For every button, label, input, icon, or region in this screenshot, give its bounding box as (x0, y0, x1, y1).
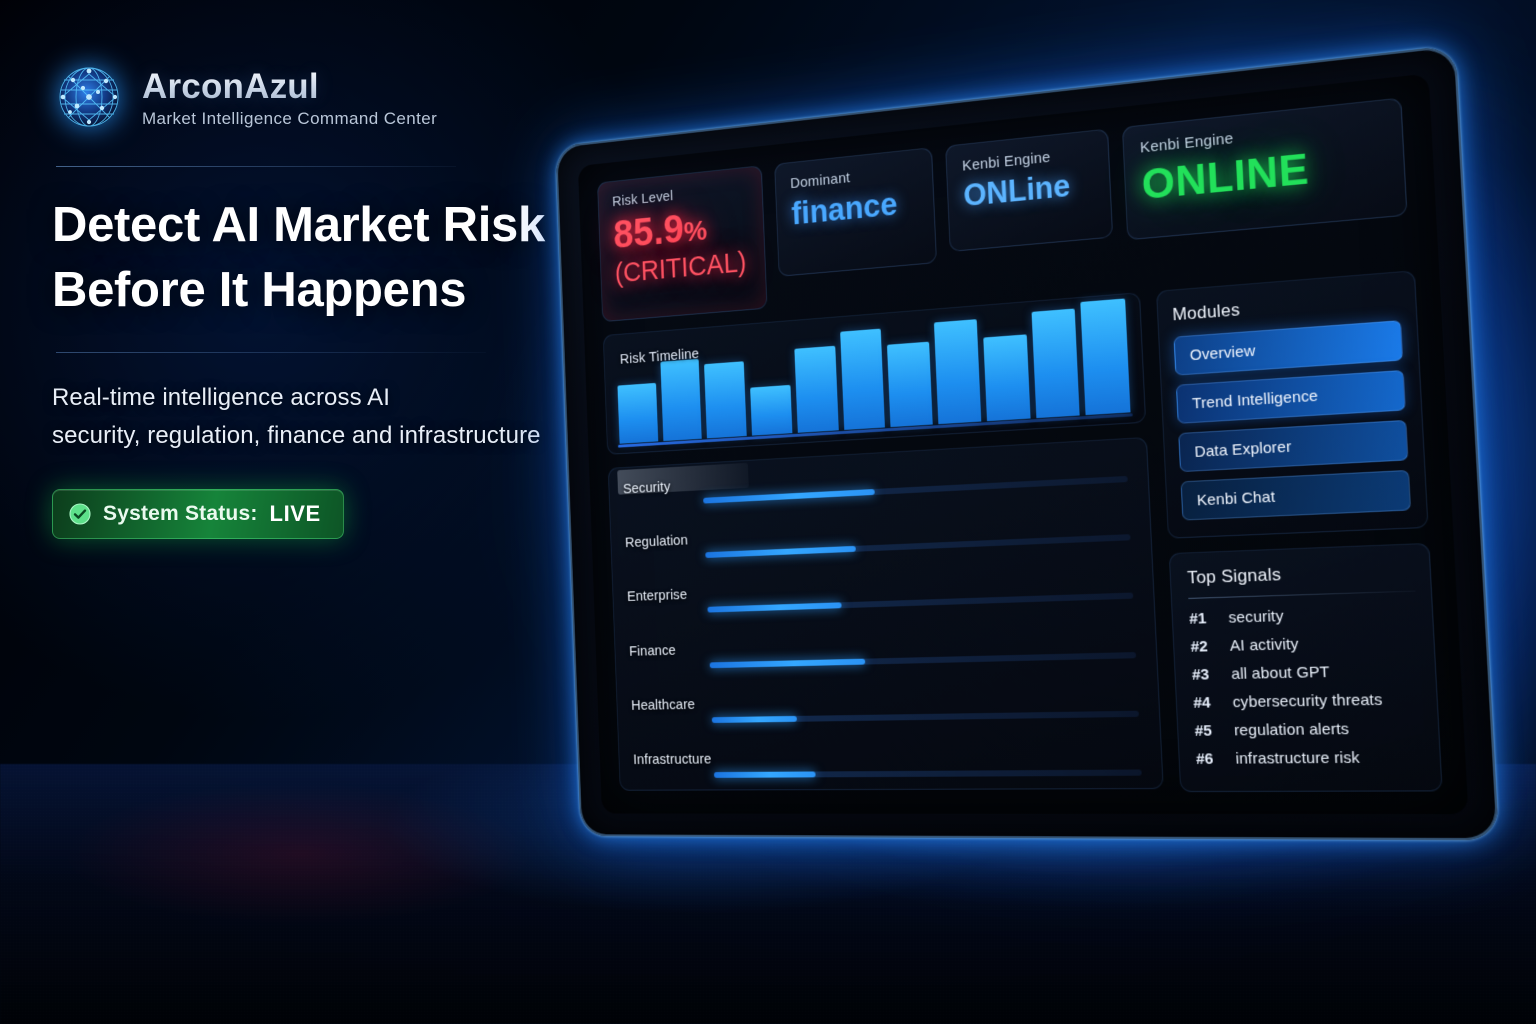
subhead-line-2: security, regulation, finance and infras… (52, 417, 572, 455)
signal-rank: #3 (1192, 666, 1222, 684)
risk-percent-sign: % (683, 215, 707, 248)
category-progress-fill (712, 716, 797, 723)
module-item-trend-intelligence[interactable]: Trend Intelligence (1176, 370, 1406, 424)
category-row[interactable]: Infrastructure (633, 747, 1146, 780)
category-row[interactable]: Security (623, 453, 1132, 509)
signal-item[interactable]: #1security (1189, 603, 1417, 628)
signal-rank: #2 (1190, 638, 1220, 656)
category-progress-track (712, 710, 1139, 722)
module-item-kenbi-chat[interactable]: Kenbi Chat (1181, 470, 1412, 521)
signal-item[interactable]: #6infrastructure risk (1196, 748, 1425, 768)
chart-bar (934, 319, 981, 424)
signal-item[interactable]: #2AI activity (1190, 632, 1418, 656)
top-signals-list: #1security#2AI activity#3all about GPT#4… (1189, 603, 1425, 778)
category-progress-fill (705, 546, 856, 558)
category-progress-track (710, 652, 1137, 668)
signal-text: security (1228, 607, 1284, 626)
chart-bar (660, 359, 702, 441)
kpi-card-risk-level[interactable]: Risk Level 85.9% (CRITICAL) (597, 165, 767, 322)
signal-text: infrastructure risk (1235, 749, 1360, 768)
kpi-card-dominant[interactable]: Dominant finance (774, 147, 937, 277)
signal-item[interactable]: #4cybersecurity threats (1193, 690, 1422, 712)
brand-lockup: ArconAzul Market Intelligence Command Ce… (52, 60, 572, 134)
chart-bar (617, 383, 658, 443)
status-label: System Status: (103, 502, 258, 526)
headline-line-1: Detect AI Market Risk (52, 193, 572, 258)
module-item-overview[interactable]: Overview (1174, 320, 1404, 375)
hero-text-column: ArconAzul Market Intelligence Command Ce… (52, 60, 572, 539)
status-badge: System Status: LIVE (52, 489, 344, 539)
signal-rank: #1 (1189, 609, 1219, 627)
top-signals-title: Top Signals (1187, 560, 1415, 589)
signal-text: AI activity (1229, 635, 1298, 655)
category-progress-track (714, 769, 1142, 777)
modules-title: Modules (1172, 287, 1400, 325)
dashboard-device: Risk Level 85.9% (CRITICAL) Dominant fin… (555, 45, 1499, 841)
signal-rank: #6 (1196, 750, 1226, 768)
dashboard-screen: Risk Level 85.9% (CRITICAL) Dominant fin… (578, 73, 1468, 814)
signal-text: all about GPT (1231, 663, 1330, 683)
category-row[interactable]: Finance (629, 629, 1140, 672)
kpi-value-risk-level: 85.9% (613, 202, 750, 255)
category-progress-fill (703, 489, 874, 504)
kpi-value-dominant: finance (791, 185, 919, 231)
category-progress-fill (707, 603, 841, 613)
category-risk-list: SecurityRegulationEnterpriseFinanceHealt… (608, 437, 1164, 791)
module-item-data-explorer[interactable]: Data Explorer (1178, 420, 1408, 472)
device-bezel: Risk Level 85.9% (CRITICAL) Dominant fin… (555, 45, 1499, 841)
modules-panel: Modules OverviewTrend IntelligenceData E… (1156, 270, 1429, 539)
chart-bar (794, 345, 838, 432)
category-progress-fill (714, 771, 816, 777)
brand-tagline: Market Intelligence Command Center (142, 109, 437, 129)
category-progress-track (705, 534, 1130, 558)
kpi-label-kenbi-engine-secondary: Kenbi Engine (1140, 114, 1385, 156)
hero-subhead: Real-time intelligence across AI securit… (52, 379, 572, 455)
signal-item[interactable]: #3all about GPT (1192, 661, 1421, 684)
signal-text: regulation alerts (1234, 720, 1350, 739)
category-name: Security (623, 479, 671, 498)
kpi-label-kenbi-engine-primary: Kenbi Engine (962, 144, 1093, 174)
category-name: Infrastructure (633, 751, 712, 768)
category-progress-track (703, 476, 1128, 504)
kpi-card-kenbi-engine-primary[interactable]: Kenbi Engine ONLine (945, 129, 1113, 252)
hero-divider-bottom (56, 352, 486, 353)
subhead-line-1: Real-time intelligence across AI (52, 379, 572, 417)
signal-rank: #4 (1193, 694, 1223, 712)
category-progress-fill (710, 658, 865, 668)
category-row[interactable]: Regulation (625, 512, 1135, 564)
dashboard-sidebar: Modules OverviewTrend IntelligenceData E… (1156, 270, 1442, 789)
hero-divider-top (56, 166, 456, 167)
category-name: Finance (629, 642, 676, 659)
modules-list: OverviewTrend IntelligenceData ExplorerK… (1174, 320, 1412, 520)
headline-line-2: Before It Happens (52, 258, 572, 323)
dashboard-main-column: Risk Timeline SecurityRegulationEnterpri… (603, 292, 1164, 791)
check-circle-icon (69, 503, 91, 525)
chart-bar (840, 329, 885, 430)
signal-text: cybersecurity threats (1232, 691, 1382, 711)
risk-number: 85.9 (613, 206, 685, 257)
top-signals-panel: Top Signals #1security#2AI activity#3all… (1169, 543, 1443, 792)
category-name: Regulation (625, 532, 688, 551)
page-title: Detect AI Market Risk Before It Happens (52, 193, 572, 322)
hero-banner: ArconAzul Market Intelligence Command Ce… (0, 0, 1536, 1024)
category-row[interactable]: Healthcare (631, 688, 1143, 726)
signal-rank: #5 (1194, 722, 1224, 740)
category-name: Enterprise (627, 587, 688, 605)
brand-name: ArconAzul (142, 67, 437, 107)
risk-timeline-chart[interactable]: Risk Timeline (603, 292, 1146, 455)
chart-bars (616, 298, 1131, 443)
network-globe-icon (52, 60, 126, 134)
status-value: LIVE (270, 501, 321, 527)
kpi-value-kenbi-engine-secondary: ONLINE (1141, 138, 1388, 207)
chart-bar (887, 342, 933, 427)
kpi-card-kenbi-engine-secondary[interactable]: Kenbi Engine ONLINE (1122, 97, 1408, 240)
chart-bar (750, 385, 792, 436)
category-name: Healthcare (631, 696, 695, 713)
signal-item[interactable]: #5regulation alerts (1194, 719, 1423, 740)
top-signals-divider (1188, 591, 1415, 599)
chart-bar (704, 361, 746, 438)
